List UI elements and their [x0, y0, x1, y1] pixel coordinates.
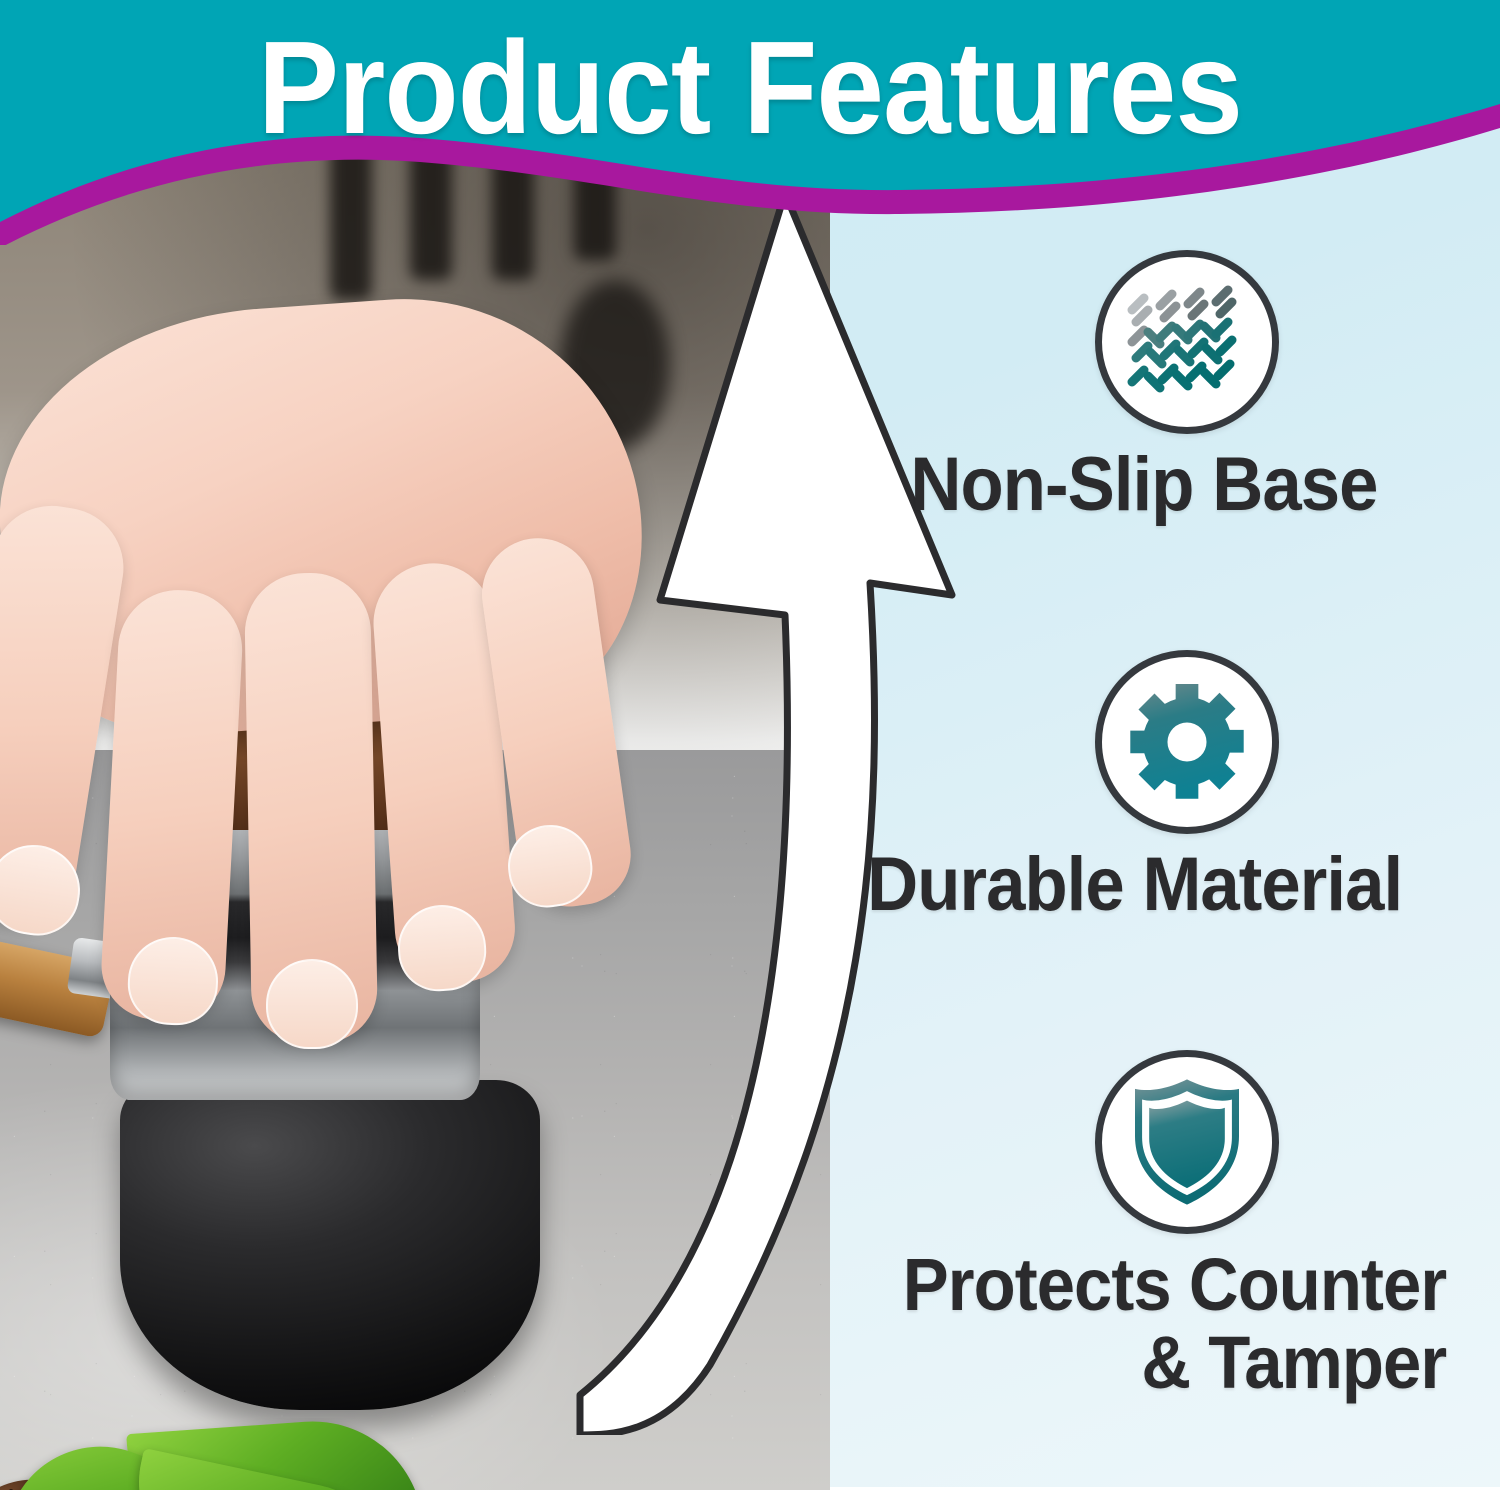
feature-label: Durable Material — [786, 846, 1474, 924]
non-slip-texture-icon — [1095, 250, 1279, 434]
feature-label: Non-Slip Base — [786, 446, 1474, 524]
silicone-tamper-mat — [120, 1080, 540, 1410]
gear-icon — [1095, 650, 1279, 834]
feature-list: Non-Slip Base Durable Material — [760, 250, 1500, 1450]
product-features-infographic: Product Features — [0, 0, 1500, 1500]
middle-nail — [266, 959, 358, 1049]
coffee-beans-decor — [0, 1418, 540, 1490]
shield-icon — [1095, 1050, 1279, 1234]
feature-label: Protects Counter & Tamper — [786, 1246, 1474, 1401]
